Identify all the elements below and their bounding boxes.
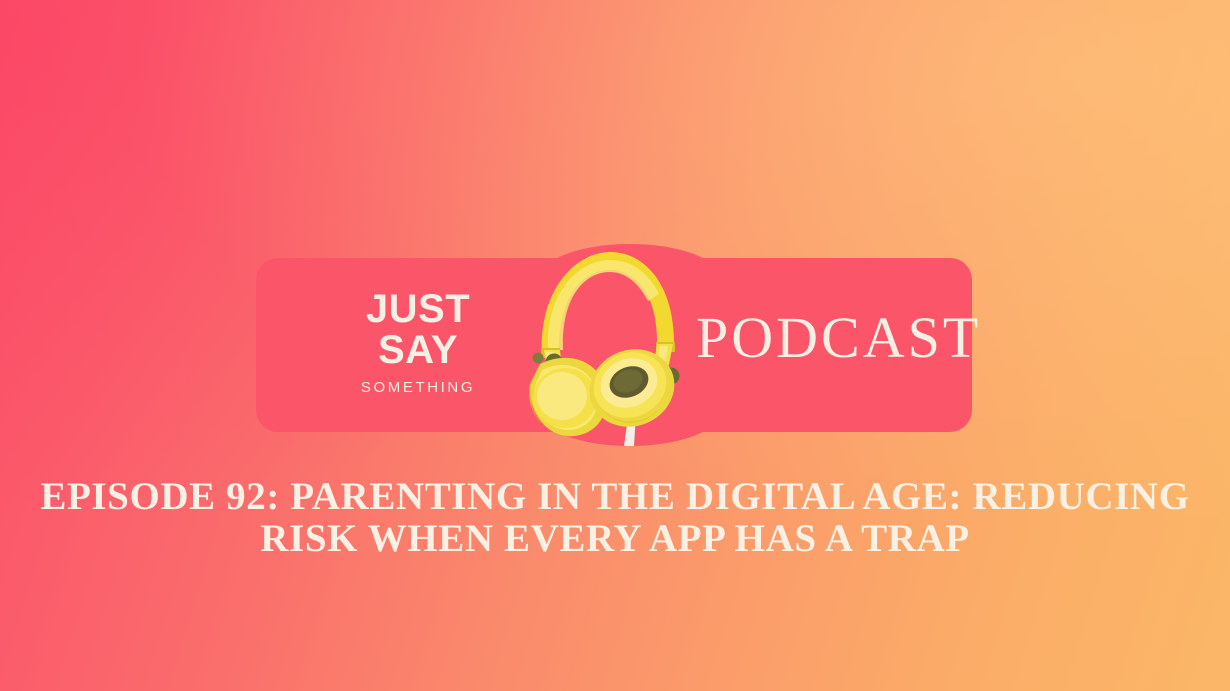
logo-line-just: JUST [356, 290, 480, 329]
episode-title: EPISODE 92: PARENTING IN THE DIGITAL AGE… [0, 476, 1230, 559]
logo-line-something: SOMETHING [356, 379, 480, 396]
podcast-label: PODCAST [696, 304, 981, 371]
just-say-something-logo: JUST SAY SOMETHING [356, 290, 480, 396]
podcast-logo-card: JUST SAY SOMETHING [256, 252, 972, 438]
headphones-icon [524, 238, 692, 448]
logo-line-say: SAY [356, 331, 480, 370]
